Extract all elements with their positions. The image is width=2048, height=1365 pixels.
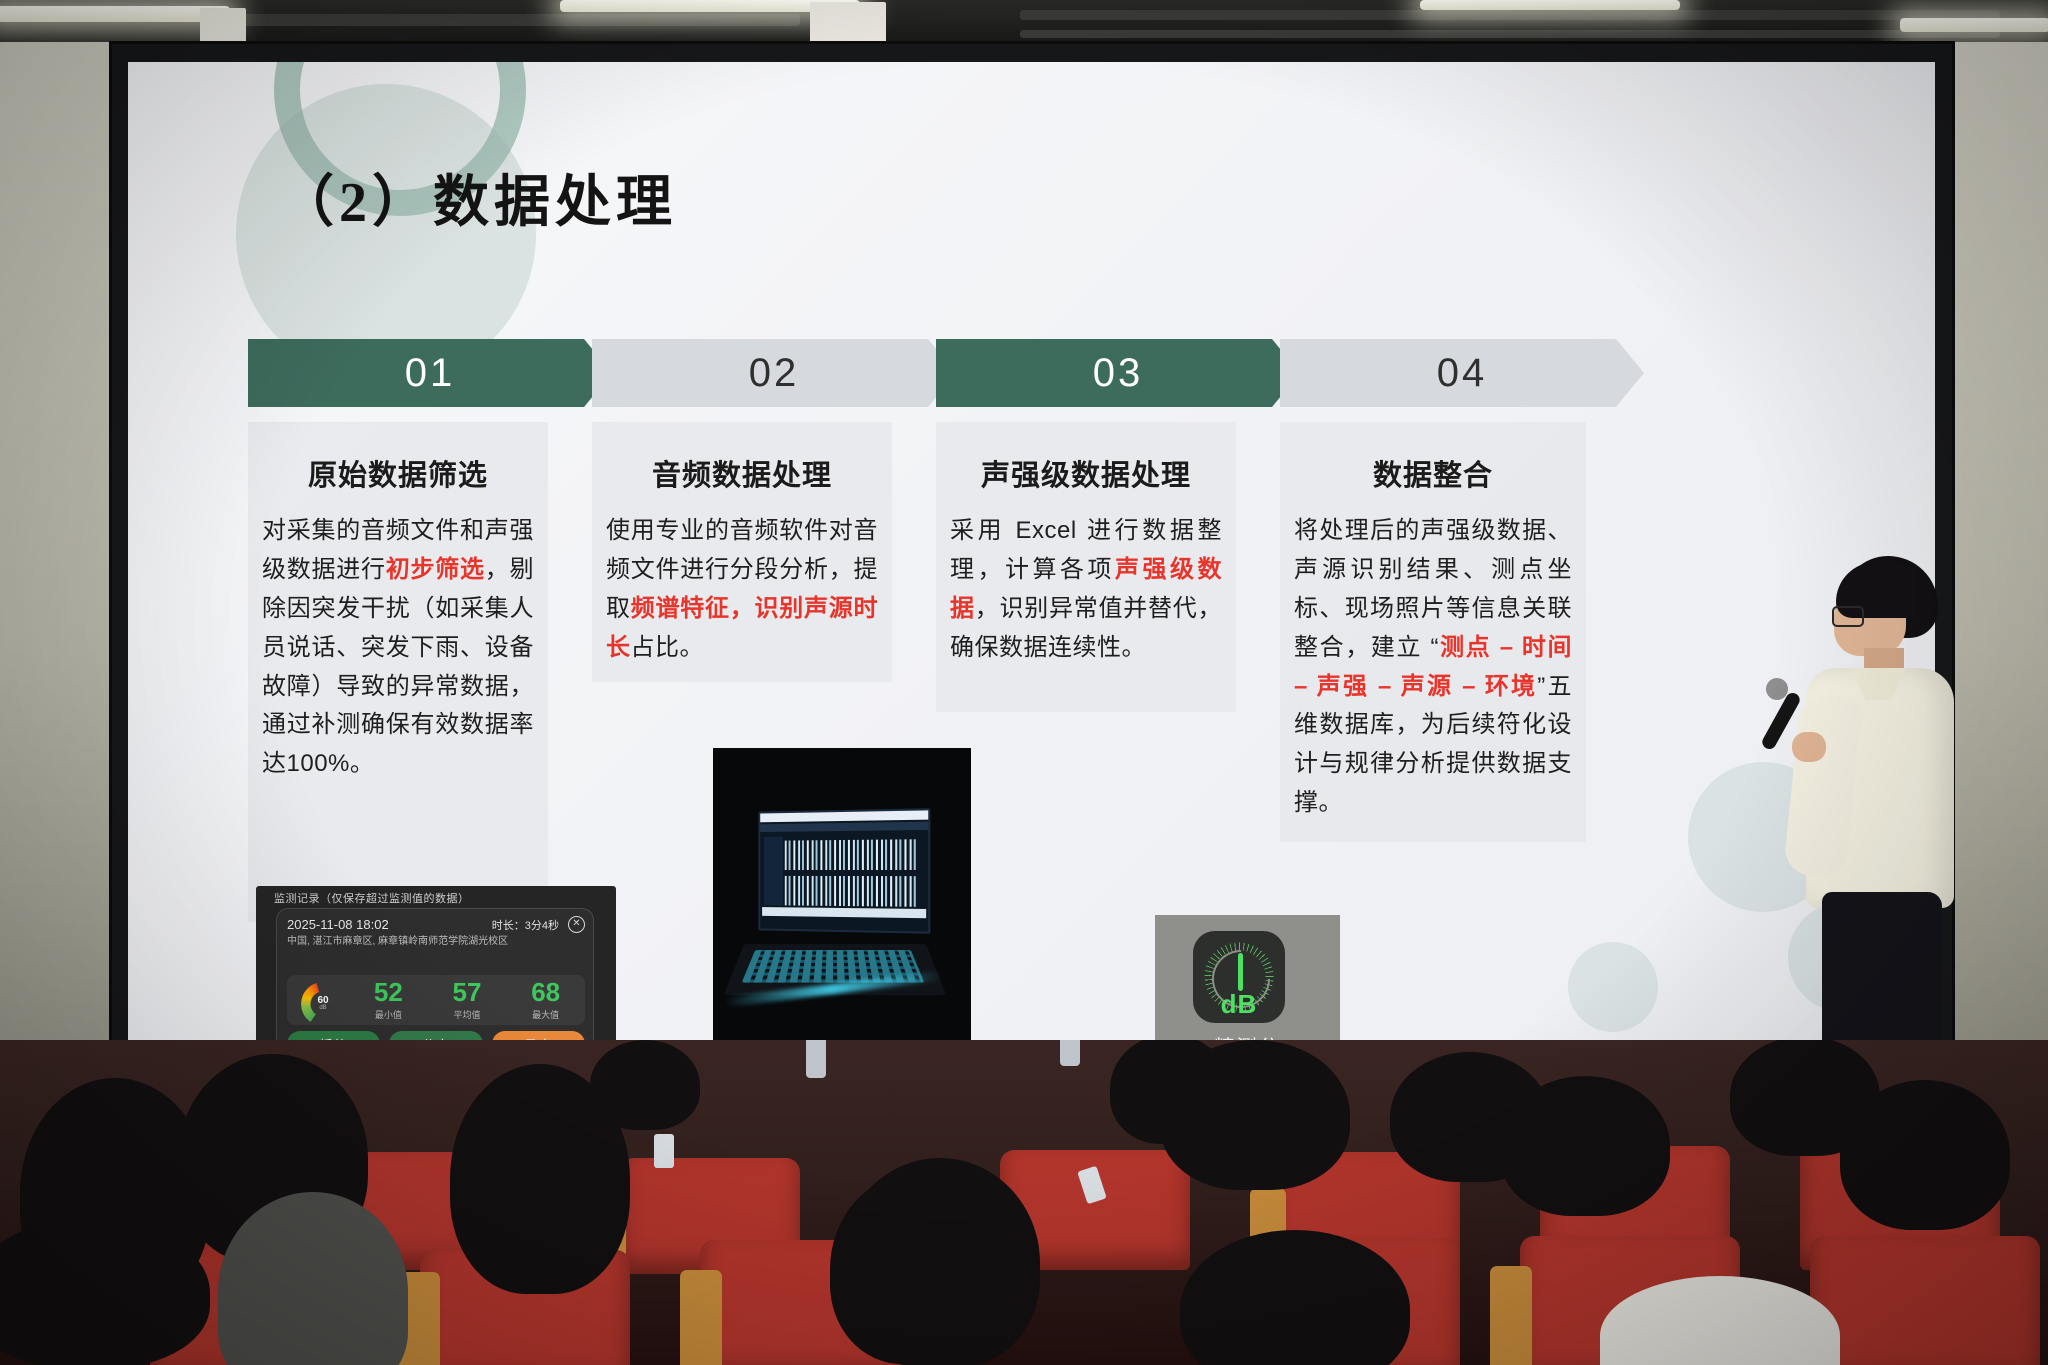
card-body: 使用专业的音频软件对音频文件进行分段分析，提取频谱特征，识别声源时长占比。	[606, 512, 878, 668]
gauge-needle	[1238, 953, 1243, 991]
card-03: 声强级数据处理 采用 Excel 进行数据整理，计算各项声强级数据，识别异常值并…	[936, 422, 1236, 712]
armrest	[680, 1270, 722, 1365]
decibel-gauge-icon: 60 dB	[297, 980, 349, 1020]
editor-toolbar	[760, 810, 928, 822]
audience-head	[830, 1174, 1000, 1364]
card-title: 声强级数据处理	[950, 452, 1222, 494]
water-bottle	[1060, 1040, 1080, 1066]
lecture-hall-scene: （2）数据处理 01 02 03 04 原始数据筛选 对采集的音频文件和声强级数…	[0, 0, 2048, 1365]
step-chevron-03[interactable]: 03	[936, 339, 1300, 407]
card-title: 原始数据筛选	[262, 452, 534, 494]
step-chevron-02[interactable]: 02	[592, 339, 956, 407]
step-number: 04	[1437, 351, 1488, 396]
card-body: 采用 Excel 进行数据整理，计算各项声强级数据，识别异常值并替代，确保数据连…	[950, 512, 1222, 668]
card-body: 对采集的音频文件和声强级数据进行初步筛选，剔除因突发干扰（如采集人员说话、突发下…	[262, 512, 534, 784]
stat-value: 57	[428, 979, 507, 1005]
audience-head	[1500, 1076, 1670, 1216]
stat-value: 68	[506, 979, 585, 1005]
phone	[654, 1134, 674, 1168]
step-number: 02	[749, 351, 800, 396]
decorative-circle	[1568, 942, 1658, 1032]
record-duration: 时长：3分4秒	[492, 917, 559, 933]
audio-waveform-track	[785, 839, 918, 870]
step-banner: 01 02 03 04	[248, 339, 1548, 407]
editor-subbar	[760, 822, 928, 832]
record-timestamp: 2025-11-08 18:02	[287, 917, 389, 932]
editor-sidebar	[764, 837, 783, 906]
laptop-screen	[758, 808, 930, 933]
audio-waveform-track	[785, 876, 918, 907]
card-title: 音频数据处理	[606, 452, 878, 494]
audience-head	[1160, 1040, 1350, 1190]
step-chevron-04[interactable]: 04	[1280, 339, 1644, 407]
ceiling-light	[0, 6, 230, 22]
monitoring-header: 监测记录（仅保存超过监测值的数据）	[256, 886, 616, 906]
stat-label: 平均值	[428, 1008, 507, 1021]
seat	[1810, 1236, 2040, 1365]
card-02: 音频数据处理 使用专业的音频软件对音频文件进行分段分析，提取频谱特征，识别声源时…	[592, 422, 892, 682]
wall-left	[0, 42, 128, 1052]
armrest	[1490, 1266, 1532, 1365]
record-stats-panel: 60 dB 52 最小值 57 平均值 68 最大值	[287, 975, 585, 1025]
body-text: ，剔除因突发干扰（如采集人员说话、突发下雨、设备故障）导致的异常数据，通过补测确…	[262, 556, 534, 777]
step-chevron-01[interactable]: 01	[248, 339, 612, 407]
card-title: 数据整合	[1294, 452, 1572, 494]
editor-statusbar	[762, 907, 926, 918]
slide-title: （2）数据处理	[278, 157, 677, 238]
audience-head	[590, 1040, 700, 1130]
laptop-audio-editing-photo	[713, 748, 971, 1088]
audience-head	[1840, 1080, 2010, 1230]
db-icon-label: dB	[1193, 989, 1285, 1020]
ceiling-light	[1900, 18, 2048, 32]
stat-value: 52	[349, 979, 428, 1005]
step-number: 01	[405, 351, 456, 396]
stat-label: 最大值	[506, 1008, 585, 1021]
ceiling-pipe	[1020, 10, 2000, 20]
glasses-icon	[1832, 606, 1864, 627]
close-icon[interactable]: ✕	[568, 916, 585, 933]
audience-area	[0, 1040, 2048, 1365]
stat-label: 最小值	[349, 1008, 428, 1021]
ceiling-pipe	[1020, 30, 2000, 38]
body-text: ，识别异常值并替代，确保数据连续性。	[950, 595, 1222, 661]
water-bottle	[806, 1040, 826, 1078]
presenter	[1788, 556, 1988, 1116]
card-04: 数据整合 将处理后的声强级数据、声源识别结果、测点坐标、现场照片等信息关联整合，…	[1280, 422, 1586, 842]
db-app-icon: dB	[1193, 931, 1285, 1023]
card-01: 原始数据筛选 对采集的音频文件和声强级数据进行初步筛选，剔除因突发干扰（如采集人…	[248, 422, 548, 922]
card-body: 将处理后的声强级数据、声源识别结果、测点坐标、现场照片等信息关联整合，建立 “测…	[1294, 512, 1572, 823]
record-location: 中国, 湛江市麻章区, 麻章镇岭南师范学院湖光校区	[287, 935, 537, 949]
gauge-unit: dB	[297, 1005, 349, 1011]
ceiling-pipe	[240, 14, 800, 26]
ceiling-light	[1420, 0, 1680, 10]
stat-avg: 57 平均值	[428, 979, 507, 1021]
presenter-hand	[1792, 732, 1826, 762]
highlighted-text: 初步筛选	[386, 556, 485, 583]
stat-max: 68 最大值	[506, 979, 585, 1021]
step-number: 03	[1093, 351, 1144, 396]
stat-min: 52 最小值	[349, 979, 428, 1021]
body-text: 占比。	[631, 634, 705, 661]
